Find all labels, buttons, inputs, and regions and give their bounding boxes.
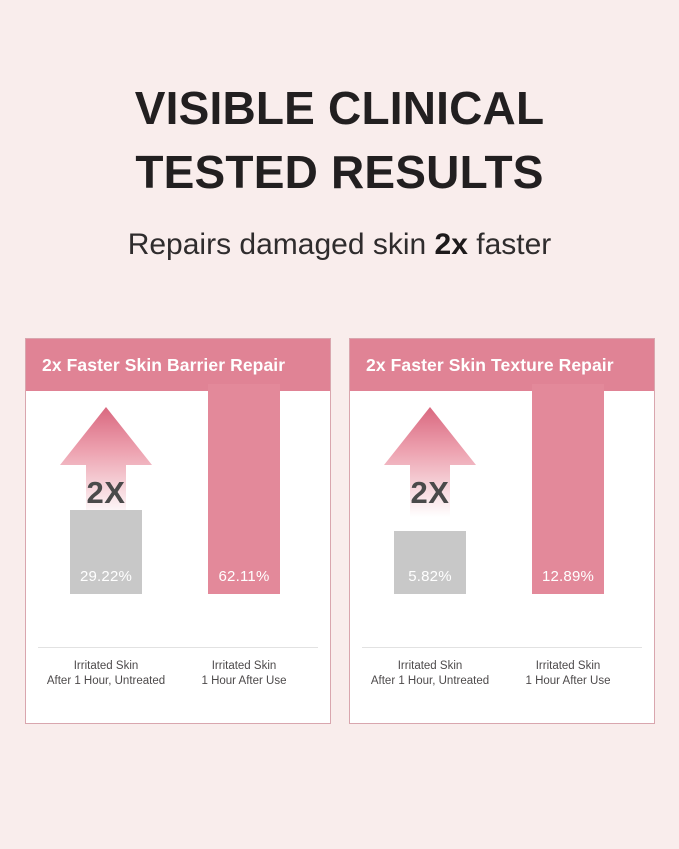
bar-chart-barrier-repair: 2X 29.22% Irritated Skin After 1 Hour, U… [26,391,330,723]
bar-after-use: 12.89% [532,384,604,594]
results-cards-row: 2x Faster Skin Barrier Repair [25,338,655,724]
chart-column-after-use: 62.11% Irritated Skin 1 Hour After Use [178,391,310,723]
bar-value-after-use: 12.89% [542,568,594,594]
chart-column-after-use: 12.89% Irritated Skin 1 Hour After Use [502,391,634,723]
subtitle-suffix: faster [468,228,551,261]
caption-line-2: After 1 Hour, Untreated [31,674,181,689]
result-card-texture-repair: 2x Faster Skin Texture Repair [349,338,655,724]
subtitle-emphasis: 2x [435,228,468,261]
page-title-line-1: VISIBLE CLINICAL [0,76,679,140]
caption-line-2: 1 Hour After Use [169,674,319,689]
bar-caption-after-use: Irritated Skin 1 Hour After Use [169,659,319,689]
chart-column-untreated: 5.82% Irritated Skin After 1 Hour, Untre… [364,391,496,723]
bar-after-use: 62.11% [208,384,280,594]
card-body-texture-repair: 2X 5.82% Irritated Skin After 1 Hour, Un… [350,391,654,723]
caption-line-1: Irritated Skin [31,659,181,674]
bar-caption-after-use: Irritated Skin 1 Hour After Use [493,659,643,689]
card-header-texture-repair: 2x Faster Skin Texture Repair [350,339,654,391]
caption-line-2: 1 Hour After Use [493,674,643,689]
bar-untreated: 29.22% [70,510,142,594]
page-title-line-2: TESTED RESULTS [0,140,679,204]
bar-untreated: 5.82% [394,531,466,594]
bar-chart-texture-repair: 2X 5.82% Irritated Skin After 1 Hour, Un… [350,391,654,723]
page-subtitle: Repairs damaged skin 2x faster [0,226,679,264]
chart-column-untreated: 29.22% Irritated Skin After 1 Hour, Untr… [40,391,172,723]
bar-value-untreated: 5.82% [408,568,452,594]
bar-caption-untreated: Irritated Skin After 1 Hour, Untreated [355,659,505,689]
caption-line-2: After 1 Hour, Untreated [355,674,505,689]
card-header-barrier-repair: 2x Faster Skin Barrier Repair [26,339,330,391]
bar-value-untreated: 29.22% [80,568,132,594]
card-body-barrier-repair: 2X 29.22% Irritated Skin After 1 Hour, U… [26,391,330,723]
caption-line-1: Irritated Skin [493,659,643,674]
subtitle-prefix: Repairs damaged skin [128,228,435,261]
result-card-barrier-repair: 2x Faster Skin Barrier Repair [25,338,331,724]
bar-caption-untreated: Irritated Skin After 1 Hour, Untreated [31,659,181,689]
caption-line-1: Irritated Skin [355,659,505,674]
page-header: VISIBLE CLINICAL TESTED RESULTS Repairs … [0,76,679,264]
bar-value-after-use: 62.11% [219,568,270,594]
caption-line-1: Irritated Skin [169,659,319,674]
